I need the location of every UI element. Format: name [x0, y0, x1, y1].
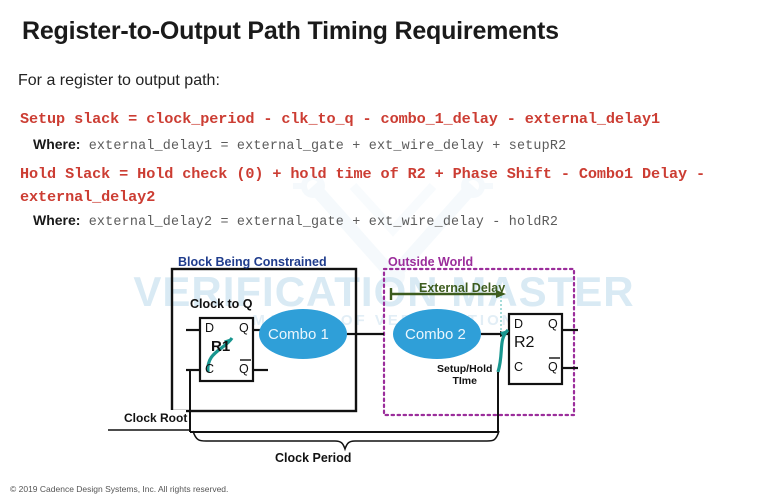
r2-pin-q-label: Q — [548, 317, 558, 331]
label-block-being-constrained: Block Being Constrained — [178, 255, 327, 269]
r1-pin-c-label: C — [205, 362, 214, 376]
hold-where-expression: external_delay2 = external_gate + ext_wi… — [80, 215, 558, 230]
register-r1-label: R1 — [211, 338, 230, 355]
label-clock-period: Clock Period — [275, 451, 351, 465]
combo2-label: Combo 2 — [405, 326, 466, 343]
intro-text: For a register to output path: — [18, 72, 220, 90]
hold-where-label: Where: — [33, 212, 80, 228]
r1-pin-q-label: Q — [239, 321, 249, 335]
r1-pin-qbar-label: Q — [239, 362, 249, 376]
setup-where-line: Where: external_delay1 = external_gate +… — [33, 136, 566, 154]
setup-where-expression: external_delay1 = external_gate + ext_wi… — [80, 139, 566, 154]
slide-canvas: VERIFICATION MASTER MASTER OF VERIFICATI… — [0, 0, 768, 501]
copyright-footer: © 2019 Cadence Design Systems, Inc. All … — [10, 484, 228, 494]
r1-pin-d-label: D — [205, 321, 214, 335]
hold-where-line: Where: external_delay2 = external_gate +… — [33, 212, 558, 230]
label-clock-to-q: Clock to Q — [190, 297, 253, 311]
r2-pin-d-label: D — [514, 317, 523, 331]
setup-where-label: Where: — [33, 136, 80, 152]
r2-pin-c-label: C — [514, 360, 523, 374]
setup-hold-line1: Setup/Hold — [437, 363, 492, 375]
register-r2-label: R2 — [514, 334, 534, 352]
label-external-delay: External Delay — [419, 281, 505, 295]
combo1-label: Combo 1 — [268, 326, 329, 343]
setup-hold-line2: TIme — [452, 375, 477, 387]
label-setup-hold-time: Setup/Hold TIme — [437, 363, 492, 387]
r2-pin-qbar-label: Q — [548, 360, 558, 374]
label-clock-root: Clock Root — [124, 411, 187, 425]
clock-period-brace — [193, 431, 499, 449]
page-title: Register-to-Output Path Timing Requireme… — [22, 17, 559, 46]
hold-slack-formula: Hold Slack = Hold check (0) + hold time … — [20, 163, 760, 209]
label-outside-world: Outside World — [388, 255, 473, 269]
setup-slack-formula: Setup slack = clock_period - clk_to_q - … — [20, 110, 660, 128]
